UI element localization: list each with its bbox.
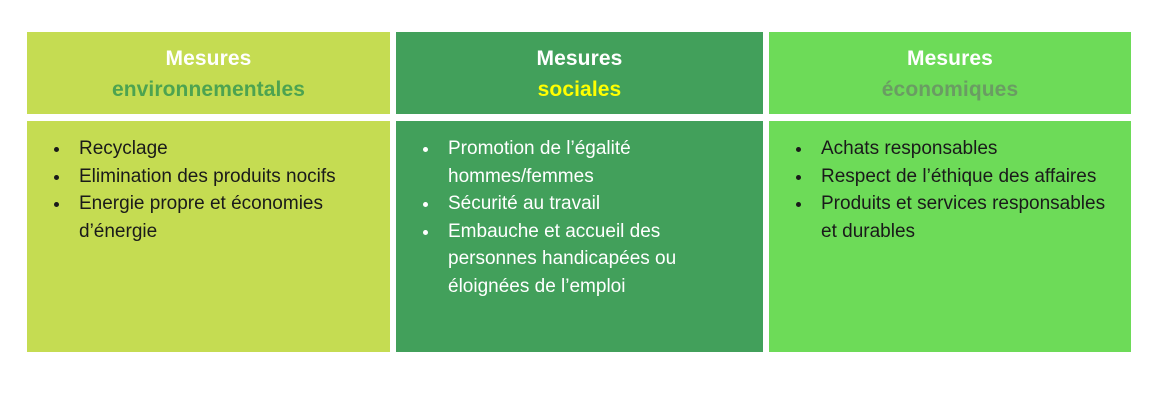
header-cell-sociales: Mesures sociales (396, 32, 763, 114)
column-economiques: Mesures économiques Achats responsables … (769, 32, 1131, 352)
header-title-line2-environnementales: environnementales (112, 74, 305, 105)
body-cell-economiques: Achats responsables Respect de l’éthique… (769, 121, 1131, 352)
column-sociales: Mesures sociales Promotion de l’égalité … (396, 32, 763, 352)
list-item: Energie propre et économies d’énergie (41, 190, 376, 245)
list-item: Recyclage (41, 135, 376, 163)
list-item: Promotion de l’égalité hommes/femmes (410, 135, 749, 190)
measures-table: Mesures environnementales Recyclage Elim… (27, 32, 1131, 352)
list-item: Produits et services responsables et dur… (783, 190, 1117, 245)
list-item: Embauche et accueil des personnes handic… (410, 218, 749, 301)
list-item: Achats responsables (783, 135, 1117, 163)
header-title-line1-economiques: Mesures (907, 44, 993, 74)
header-title-line1-sociales: Mesures (537, 44, 623, 74)
bullet-list-sociales: Promotion de l’égalité hommes/femmes Séc… (410, 135, 749, 300)
list-item: Respect de l’éthique des affaires (783, 163, 1117, 191)
bullet-list-environnementales: Recyclage Elimination des produits nocif… (41, 135, 376, 245)
header-title-line1-environnementales: Mesures (166, 44, 252, 74)
body-cell-sociales: Promotion de l’égalité hommes/femmes Séc… (396, 121, 763, 352)
header-cell-environnementales: Mesures environnementales (27, 32, 390, 114)
list-item: Sécurité au travail (410, 190, 749, 218)
header-cell-economiques: Mesures économiques (769, 32, 1131, 114)
header-title-line2-economiques: économiques (882, 74, 1018, 105)
body-cell-environnementales: Recyclage Elimination des produits nocif… (27, 121, 390, 352)
column-environnementales: Mesures environnementales Recyclage Elim… (27, 32, 390, 352)
list-item: Elimination des produits nocifs (41, 163, 376, 191)
header-title-line2-sociales: sociales (538, 74, 622, 105)
bullet-list-economiques: Achats responsables Respect de l’éthique… (783, 135, 1117, 245)
